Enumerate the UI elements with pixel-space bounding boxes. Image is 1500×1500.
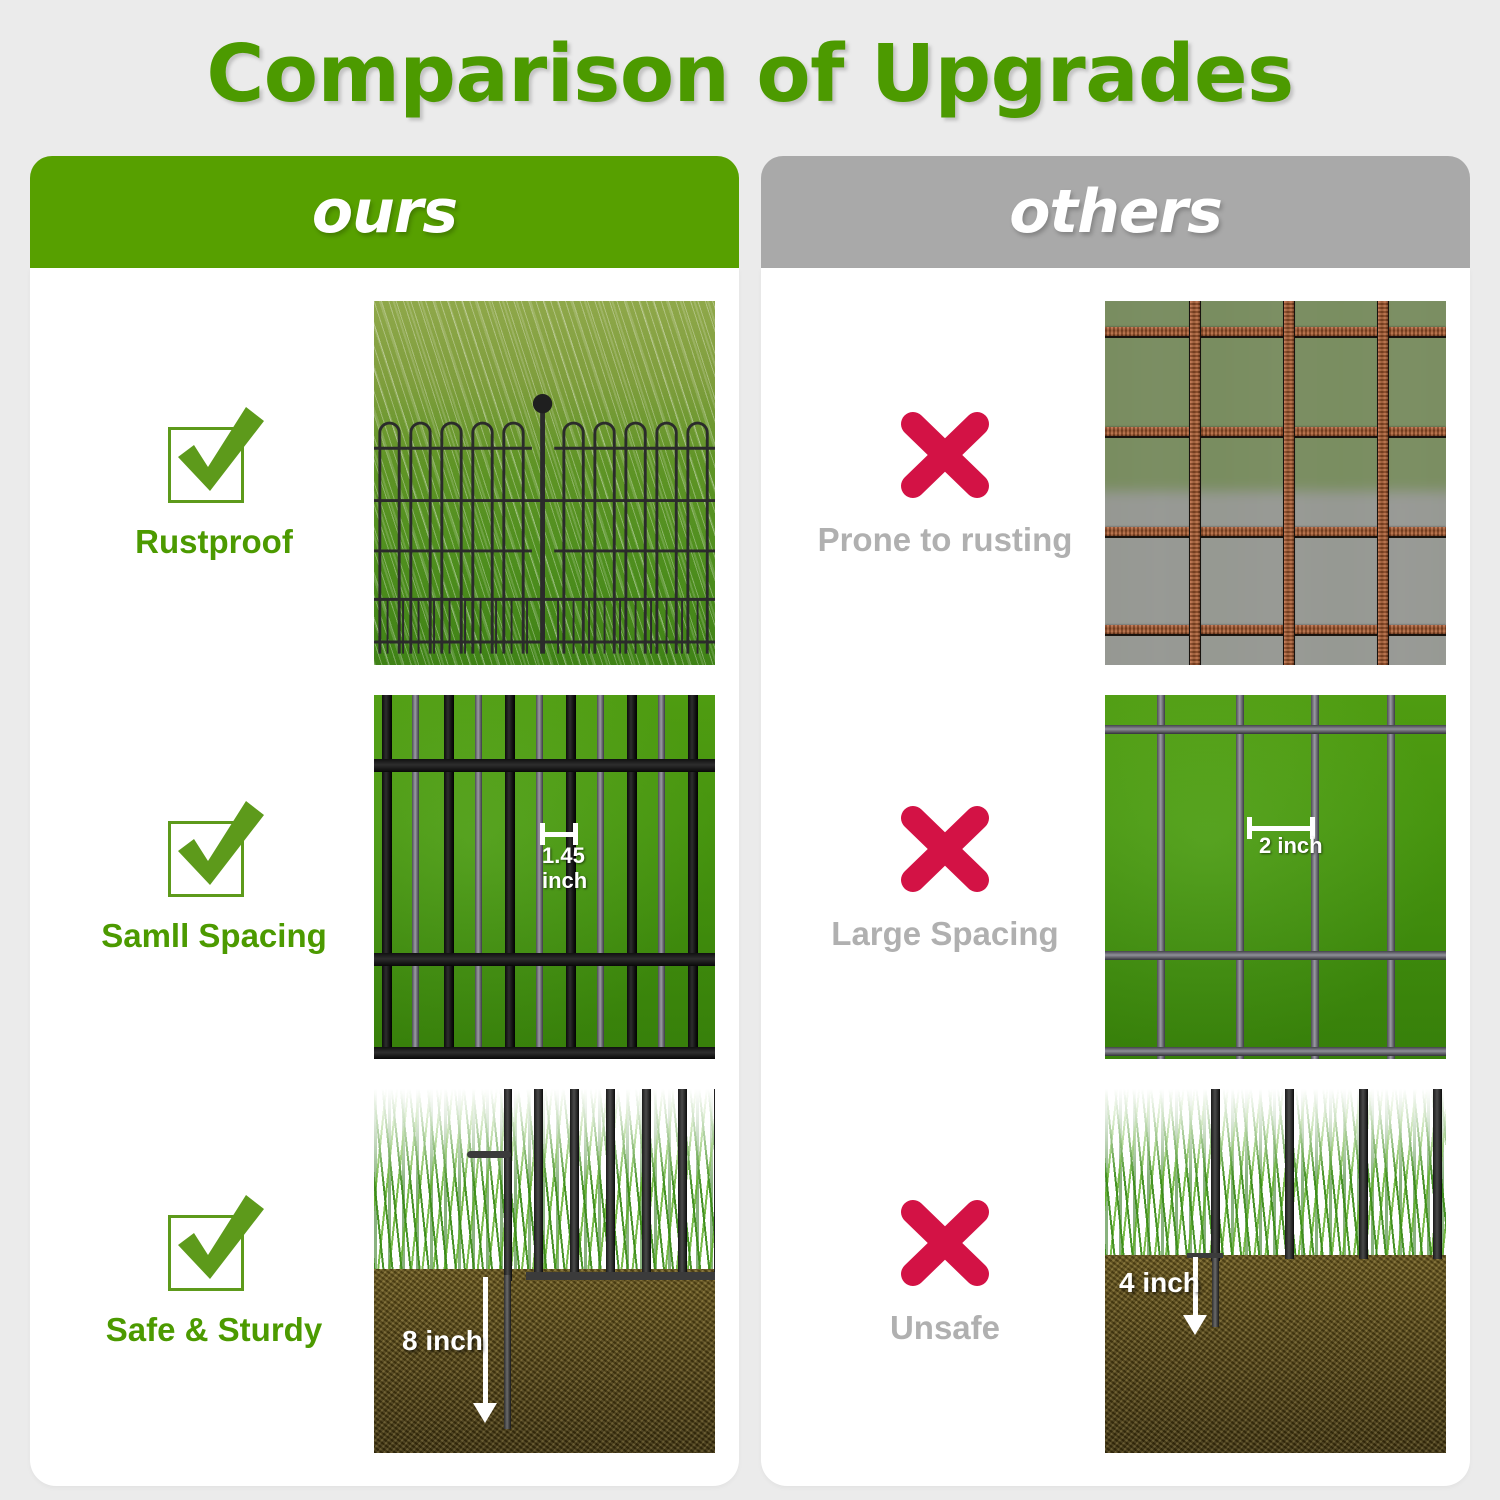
comparison-columns: ours Rustproof [30,156,1470,1468]
depth-label-4-inch: 4 inch [1119,1267,1200,1299]
feature-label-large-spacing: Large Spacing [831,915,1058,953]
narrow-spacing-fence-photo: 1.45 inch [374,695,715,1059]
feature-label-safe-sturdy: Safe & Sturdy [106,1311,322,1349]
deep-stake-in-soil-photo: 8 inch [374,1089,715,1453]
rainy-grass-arched-fence-photo [374,301,715,665]
depth-label-8-inch: 8 inch [402,1325,483,1357]
feature-row-rustproof: Rustproof [30,290,739,676]
feature-caption-rustproof: Rustproof [54,405,374,561]
feature-row-small-spacing: Samll Spacing [30,684,739,1070]
x-icon [893,407,997,503]
feature-row-unsafe: Unsafe [761,1078,1470,1464]
x-icon [893,1195,997,1291]
rusty-mesh-photo [1105,301,1446,665]
shallow-stake-in-soil-photo: 4 inch [1105,1089,1446,1453]
column-others: others Prone to rusting [761,156,1470,1468]
feature-label-rustproof: Rustproof [135,523,293,561]
feature-label-unsafe: Unsafe [890,1309,1000,1347]
measurement-label: 1.45 inch [542,844,587,893]
check-icon [160,1193,268,1293]
feature-label-small-spacing: Samll Spacing [101,917,327,955]
feature-caption-unsafe: Unsafe [785,1195,1105,1347]
feature-row-safe-sturdy: Safe & Sturdy [30,1078,739,1464]
column-header-ours: ours [30,156,739,268]
feature-caption-large-spacing: Large Spacing [785,801,1105,953]
feature-caption-safe-sturdy: Safe & Sturdy [54,1193,374,1349]
column-header-others-label: others [1009,177,1222,247]
check-icon [160,799,268,899]
feature-row-large-spacing: Large Spacing 2 inch [761,684,1470,1070]
feature-caption-prone-to-rusting: Prone to rusting [785,407,1105,559]
column-header-ours-label: ours [312,177,457,247]
column-body-ours: Rustproof [30,268,739,1486]
column-header-others: others [761,156,1470,268]
feature-row-prone-to-rusting: Prone to rusting [761,290,1470,676]
wide-spacing-fence-photo: 2 inch [1105,695,1446,1059]
column-ours: ours Rustproof [30,156,739,1468]
column-body-others: Prone to rusting [761,268,1470,1486]
x-icon [893,801,997,897]
feature-caption-small-spacing: Samll Spacing [54,799,374,955]
measurement-label: 2 inch [1259,834,1323,859]
page-title: Comparison of Upgrades [0,28,1500,120]
check-icon [160,405,268,505]
comparison-infographic: Comparison of Upgrades ours [0,0,1500,1500]
feature-label-prone-to-rusting: Prone to rusting [818,521,1073,559]
